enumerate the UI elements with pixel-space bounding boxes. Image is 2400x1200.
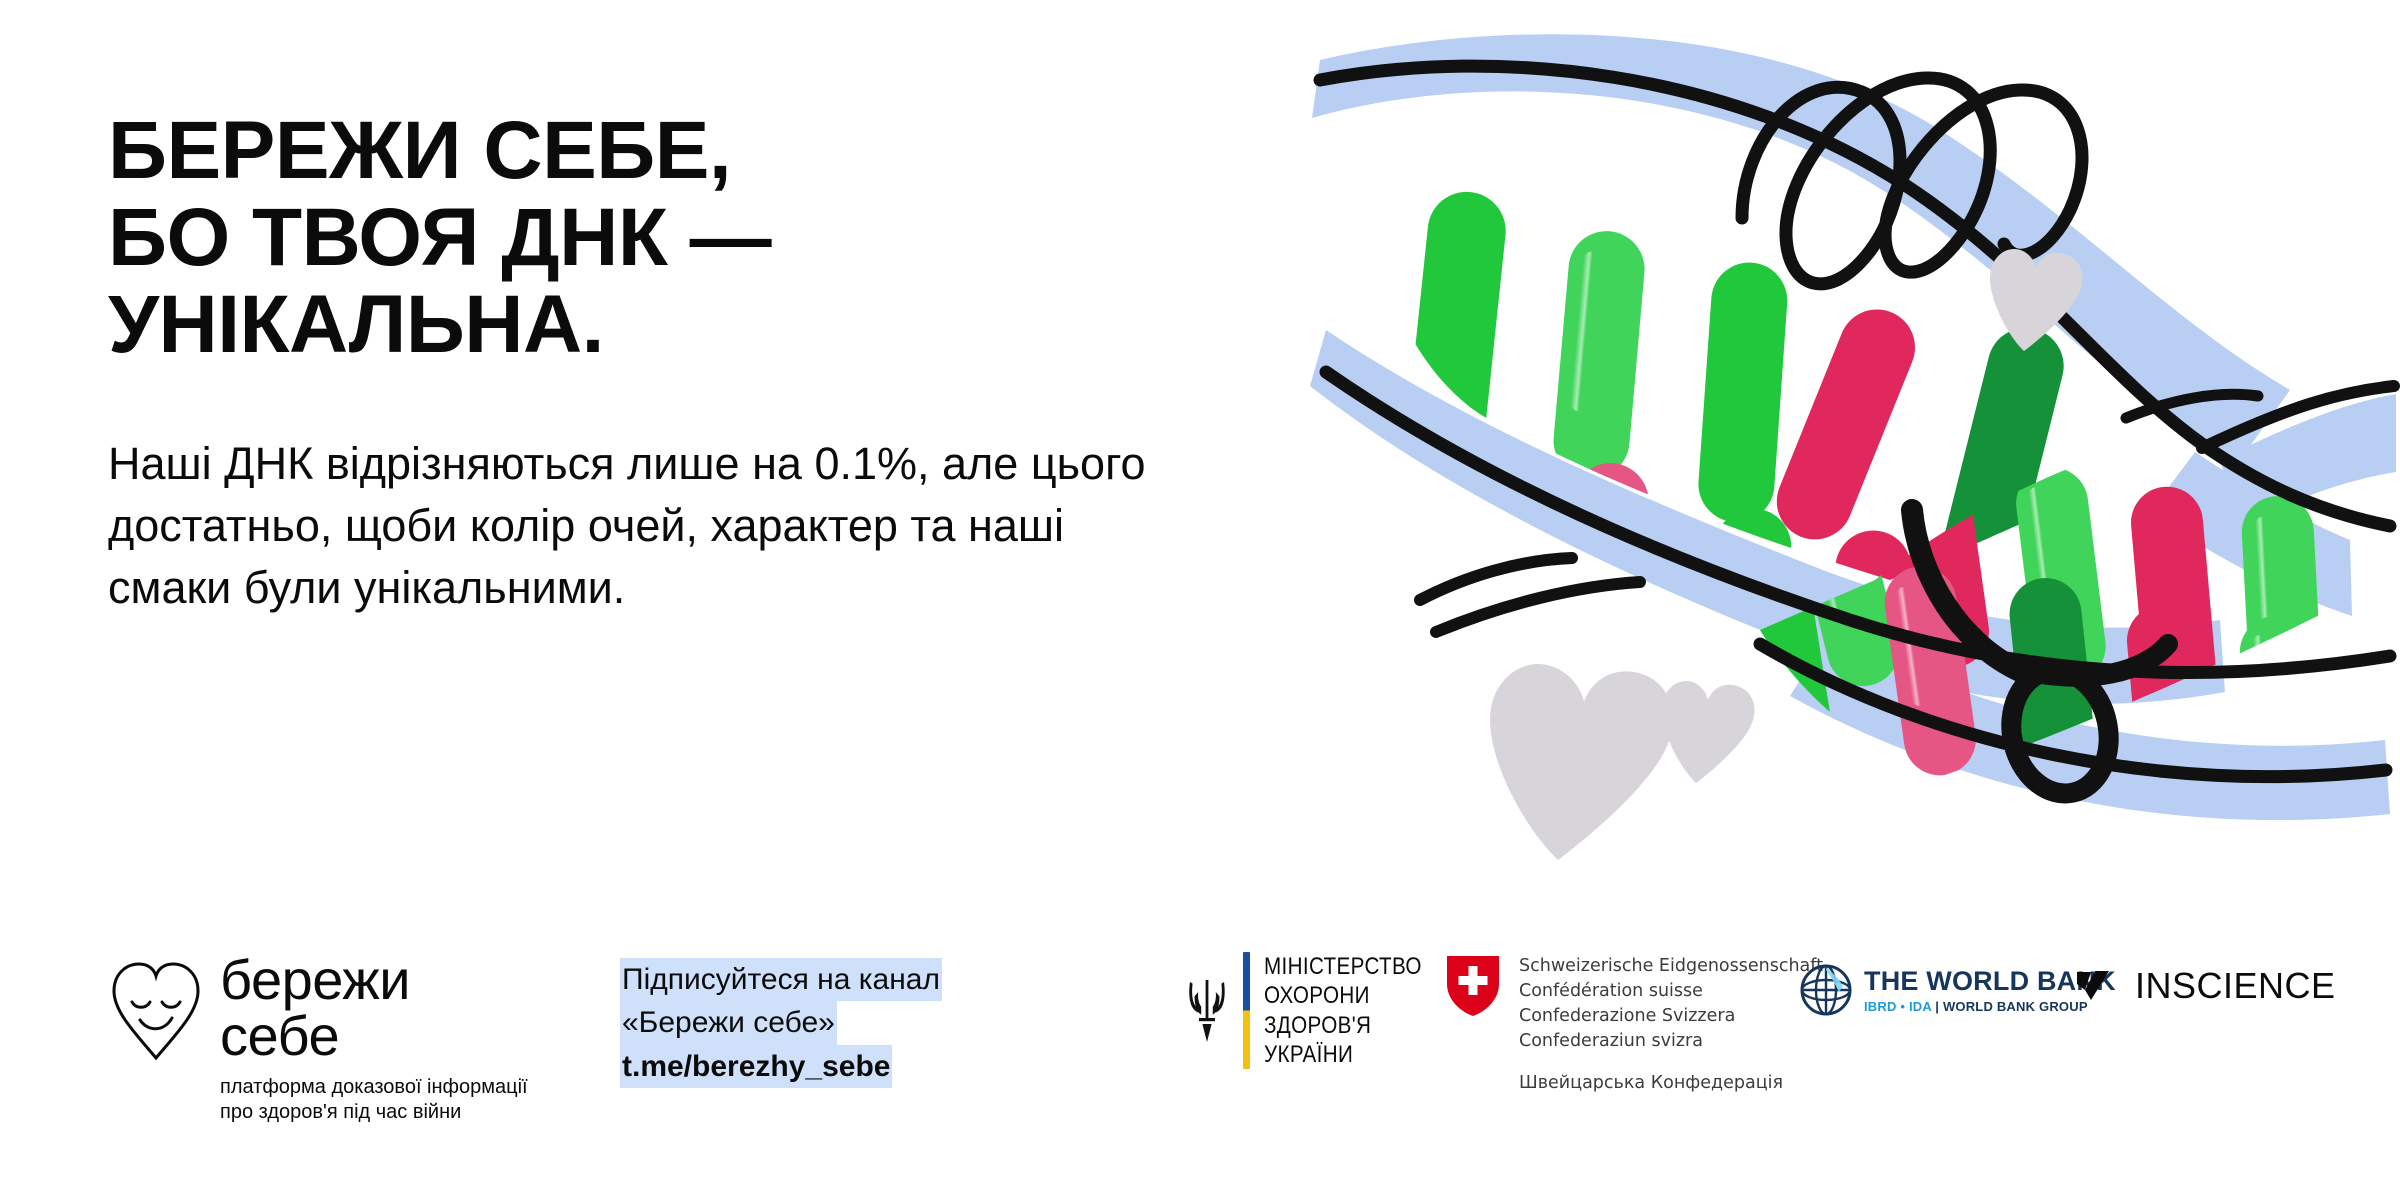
dna-double-helix-illustration (1290, 20, 2400, 890)
brand-tagline-line1: платформа доказової інформації (220, 1075, 528, 1100)
brand-lockup: бережи себе платформа доказової інформац… (108, 954, 528, 1125)
world-bank-sub-left: IBRD • IDA (1864, 999, 1931, 1014)
page-title: БЕРЕЖИ СЕБЕ, БО ТВОЯ ДНК — УНІКАЛЬНА. (108, 108, 1188, 369)
swiss-line-rm: Confederaziun svizra (1519, 1029, 1823, 1054)
brand-word-line1: бережи (220, 954, 528, 1006)
swiss-wordmark: Schweizerische Eidgenossenschaft Confédé… (1519, 954, 1823, 1096)
swiss-line-uk: Швейцарська Конфедерація (1519, 1071, 1823, 1096)
brand-tagline-line2: про здоров'я під час війни (220, 1100, 528, 1125)
swiss-cross-shield-icon (1445, 954, 1501, 1018)
heart-small-icon (1662, 681, 1755, 783)
partner-logo-swiss: Schweizerische Eidgenossenschaft Confédé… (1445, 954, 1823, 1096)
partner-logo-world-bank: THE WORLD BANK IBRD • IDA | WORLD BANK G… (1800, 964, 2116, 1016)
heart-large-icon (1490, 664, 1673, 860)
inscience-chevron-icon (2075, 968, 2121, 1004)
telegram-line-1: Підписуйтеся на канал (620, 958, 942, 1001)
telegram-callout[interactable]: Підписуйтеся на канал «Бережи себе» t.me… (620, 958, 1040, 1088)
smiling-heart-icon (108, 958, 204, 1062)
swiss-line-fr: Confédération suisse (1519, 979, 1823, 1004)
brand-wordmark: бережи себе платформа доказової інформац… (220, 954, 528, 1125)
swiss-line-de: Schweizerische Eidgenossenschaft (1519, 954, 1823, 979)
partner-logo-inscience: INSCIENCE (2075, 968, 2336, 1004)
world-bank-sub-right: WORLD BANK GROUP (1943, 999, 2088, 1014)
moz-wordmark: МІНІСТЕРСТВО ОХОРОНИ ЗДОРОВ'Я УКРАЇНИ (1264, 952, 1422, 1069)
world-bank-sub-divider: | (1935, 999, 1939, 1014)
swiss-line-it: Confederazione Svizzera (1519, 1004, 1823, 1029)
body-paragraph: Наші ДНК відрізняються лише на 0.1%, але… (108, 433, 1148, 619)
headline-line-2: БО ТВОЯ ДНК — (108, 195, 1188, 282)
ukraine-trident-icon (1185, 974, 1229, 1048)
moz-line-4: УКРАЇНИ (1264, 1040, 1422, 1069)
ink-accent-strokes (1420, 558, 1640, 632)
telegram-handle-link[interactable]: t.me/berezhy_sebe (620, 1045, 892, 1088)
moz-line-1: МІНІСТЕРСТВО (1264, 952, 1422, 981)
telegram-line-2: «Бережи себе» (620, 1001, 837, 1044)
inscience-name: INSCIENCE (2135, 968, 2336, 1004)
partner-logo-moz: МІНІСТЕРСТВО ОХОРОНИ ЗДОРОВ'Я УКРАЇНИ (1185, 952, 1447, 1069)
moz-line-3: ЗДОРОВ'Я (1264, 1011, 1422, 1040)
brand-word-line2: себе (220, 1010, 528, 1062)
footer: бережи себе платформа доказової інформац… (0, 940, 2400, 1130)
world-bank-globe-icon (1800, 964, 1852, 1016)
brand-tagline: платформа доказової інформації про здоро… (220, 1075, 528, 1125)
headline-line-3: УНІКАЛЬНА. (108, 282, 1188, 369)
headline-line-1: БЕРЕЖИ СЕБЕ, (108, 108, 1188, 195)
copy-block: БЕРЕЖИ СЕБЕ, БО ТВОЯ ДНК — УНІКАЛЬНА. На… (108, 108, 1188, 619)
moz-line-2: ОХОРОНИ (1264, 981, 1422, 1010)
ukraine-flag-bar (1243, 952, 1250, 1069)
poster-root: БЕРЕЖИ СЕБЕ, БО ТВОЯ ДНК — УНІКАЛЬНА. На… (0, 0, 2400, 1200)
